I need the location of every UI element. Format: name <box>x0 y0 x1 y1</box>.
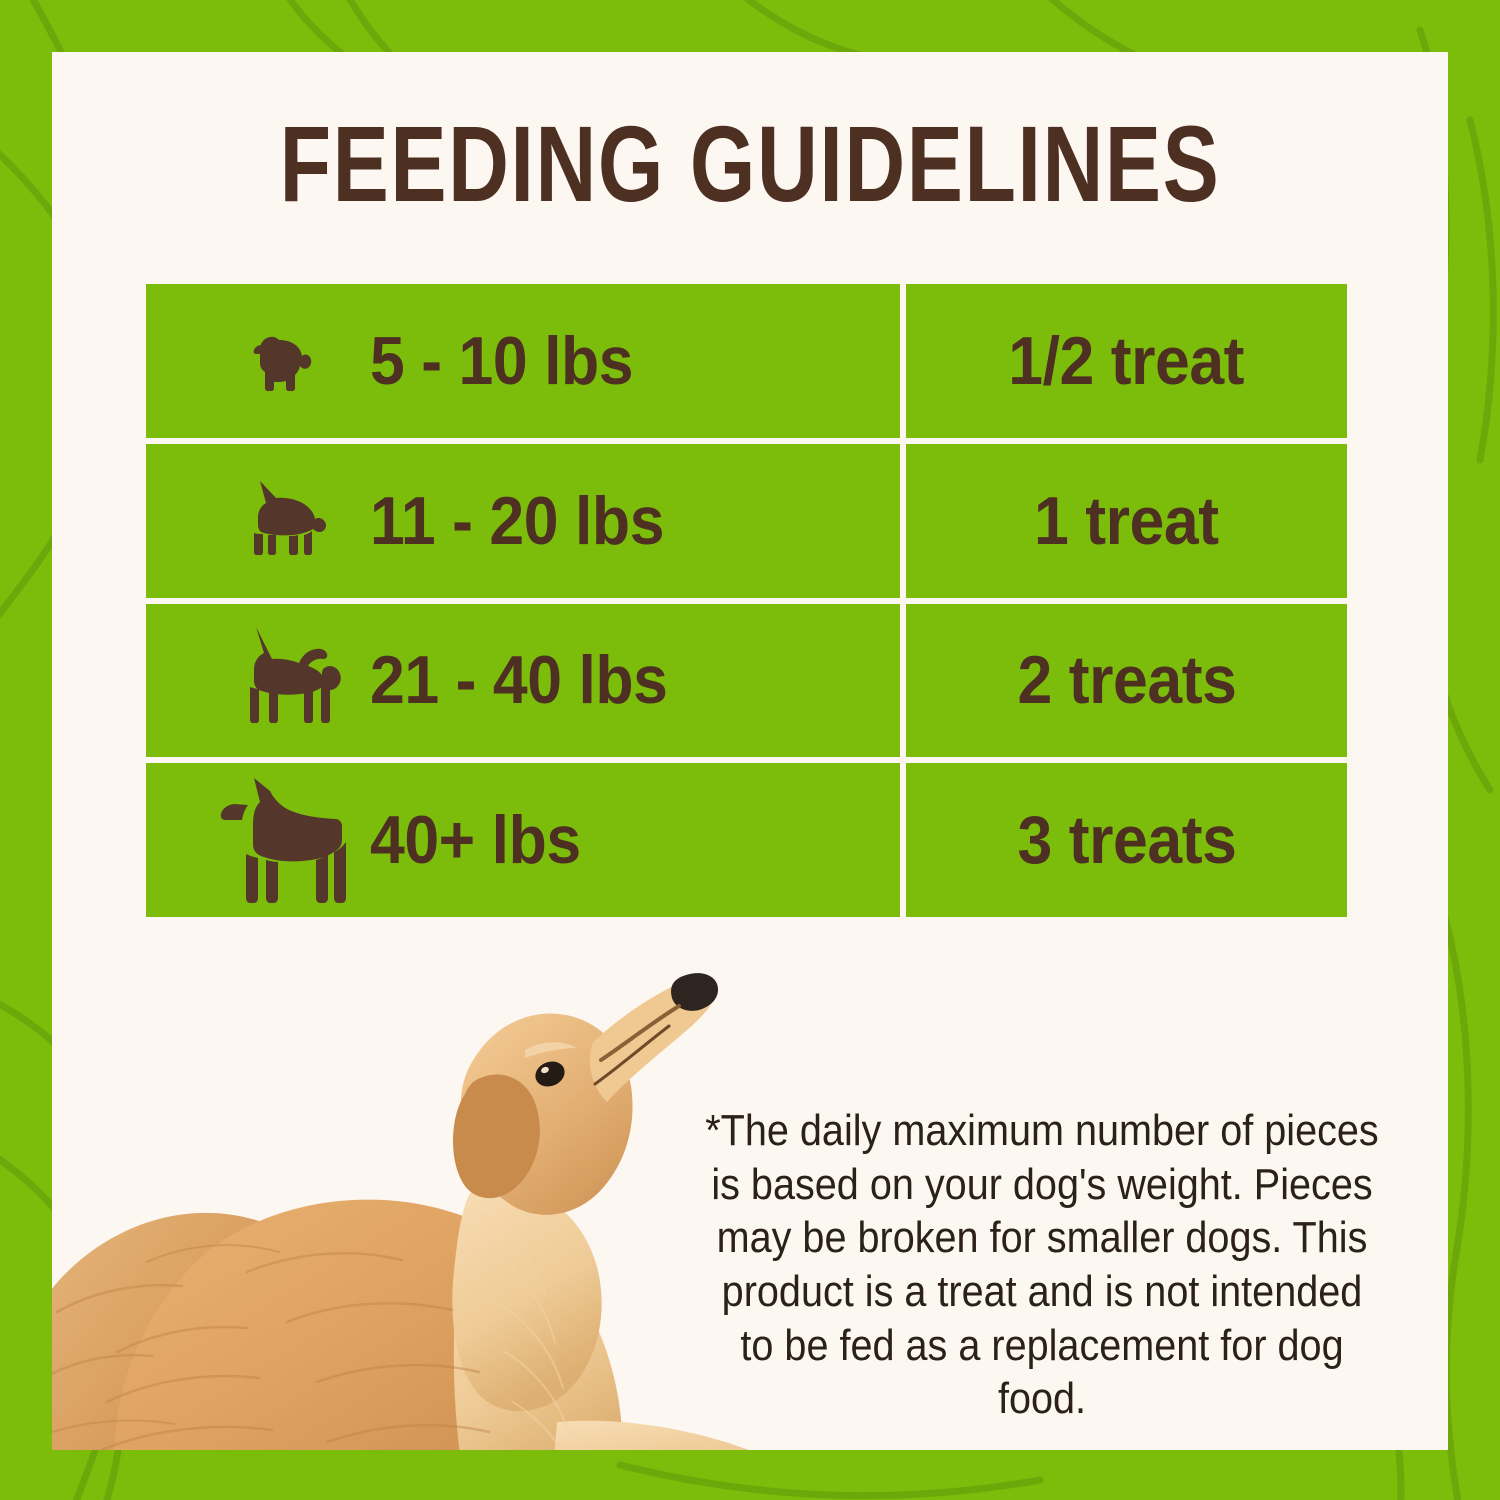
weight-label: 11 - 20 lbs <box>370 482 664 560</box>
disclaimer-text: *The daily maximum number of pieces is b… <box>705 1104 1380 1426</box>
table-row: 21 - 40 lbs 2 treats <box>146 604 1347 758</box>
weight-label: 40+ lbs <box>370 801 581 879</box>
amount-cell: 1/2 treat <box>906 284 1347 438</box>
weight-cell: 40+ lbs <box>146 763 900 917</box>
weight-label: 5 - 10 lbs <box>370 322 633 400</box>
amount-label: 2 treats <box>1017 641 1236 719</box>
feeding-guidelines-graphic: FEEDING GUIDELINES 5 - 10 lbs 1/2 treat <box>0 0 1500 1500</box>
page-title: FEEDING GUIDELINES <box>206 110 1295 218</box>
amount-label: 1/2 treat <box>1009 322 1245 400</box>
feeding-table: 5 - 10 lbs 1/2 treat <box>146 284 1347 917</box>
content-panel: FEEDING GUIDELINES 5 - 10 lbs 1/2 treat <box>52 52 1448 1450</box>
amount-label: 3 treats <box>1017 801 1236 879</box>
corgi-dog-icon <box>202 473 370 569</box>
amount-cell: 3 treats <box>906 763 1347 917</box>
weight-cell: 11 - 20 lbs <box>146 444 900 598</box>
table-row: 5 - 10 lbs 1/2 treat <box>146 284 1347 438</box>
weight-cell: 21 - 40 lbs <box>146 604 900 758</box>
medium-dog-icon <box>202 621 370 739</box>
large-dog-icon <box>202 774 370 906</box>
amount-label: 1 treat <box>1034 482 1219 560</box>
weight-cell: 5 - 10 lbs <box>146 284 900 438</box>
table-row: 11 - 20 lbs 1 treat <box>146 444 1347 598</box>
table-row: 40+ lbs 3 treats <box>146 763 1347 917</box>
amount-cell: 1 treat <box>906 444 1347 598</box>
small-dog-icon <box>202 321 370 401</box>
amount-cell: 2 treats <box>906 604 1347 758</box>
golden-retriever-photo <box>52 922 787 1450</box>
weight-label: 21 - 40 lbs <box>370 641 667 719</box>
